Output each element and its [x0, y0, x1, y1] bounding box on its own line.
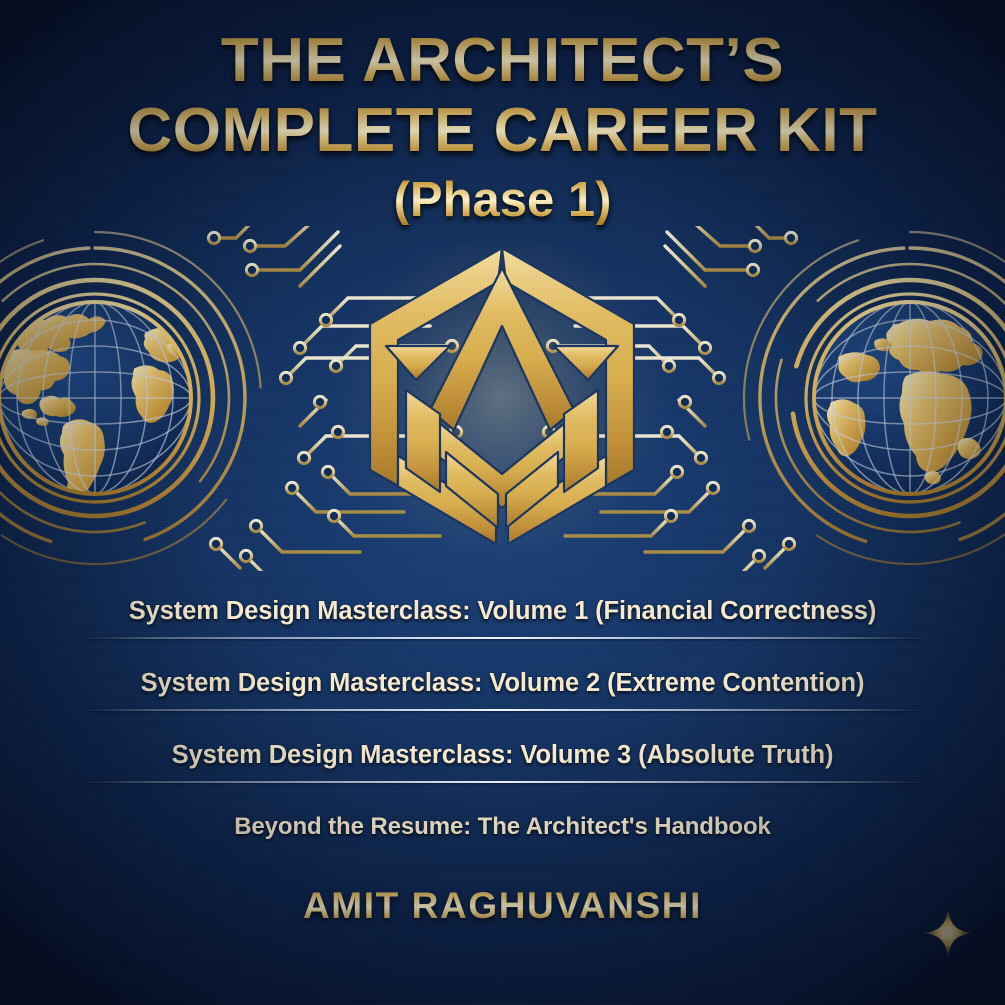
list-divider: [85, 781, 920, 783]
list-divider: [85, 709, 920, 711]
globe-europe-africa-icon: [744, 232, 1005, 564]
title-line-2: COMPLETE CAREER KIT: [0, 100, 1005, 162]
book-title: System Design Masterclass: Volume 1 (Fin…: [129, 597, 877, 626]
book-cover: THE ARCHITECT’S COMPLETE CAREER KIT (Pha…: [0, 0, 1005, 1005]
book-list: System Design Masterclass: Volume 1 (Fin…: [0, 575, 1005, 863]
title-line-1: THE ARCHITECT’S: [0, 30, 1005, 92]
hexagon-architect-emblem-icon: [337, 231, 667, 561]
book-title: System Design Masterclass: Volume 2 (Ext…: [141, 669, 865, 698]
artwork-band: [0, 226, 1005, 571]
book-title: Beyond the Resume: The Architect's Handb…: [234, 813, 771, 841]
list-divider: [85, 637, 920, 639]
globe-americas-icon: [0, 232, 261, 564]
book-list-item: Beyond the Resume: The Architect's Handb…: [0, 791, 1005, 863]
title-line-3-phase: (Phase 1): [0, 176, 1005, 225]
book-title: System Design Masterclass: Volume 3 (Abs…: [172, 741, 834, 770]
author-name: AMIT RAGHUVANSHI: [0, 885, 1005, 927]
sparkle-star-icon: [920, 905, 976, 961]
title-block: THE ARCHITECT’S COMPLETE CAREER KIT (Pha…: [0, 30, 1005, 225]
